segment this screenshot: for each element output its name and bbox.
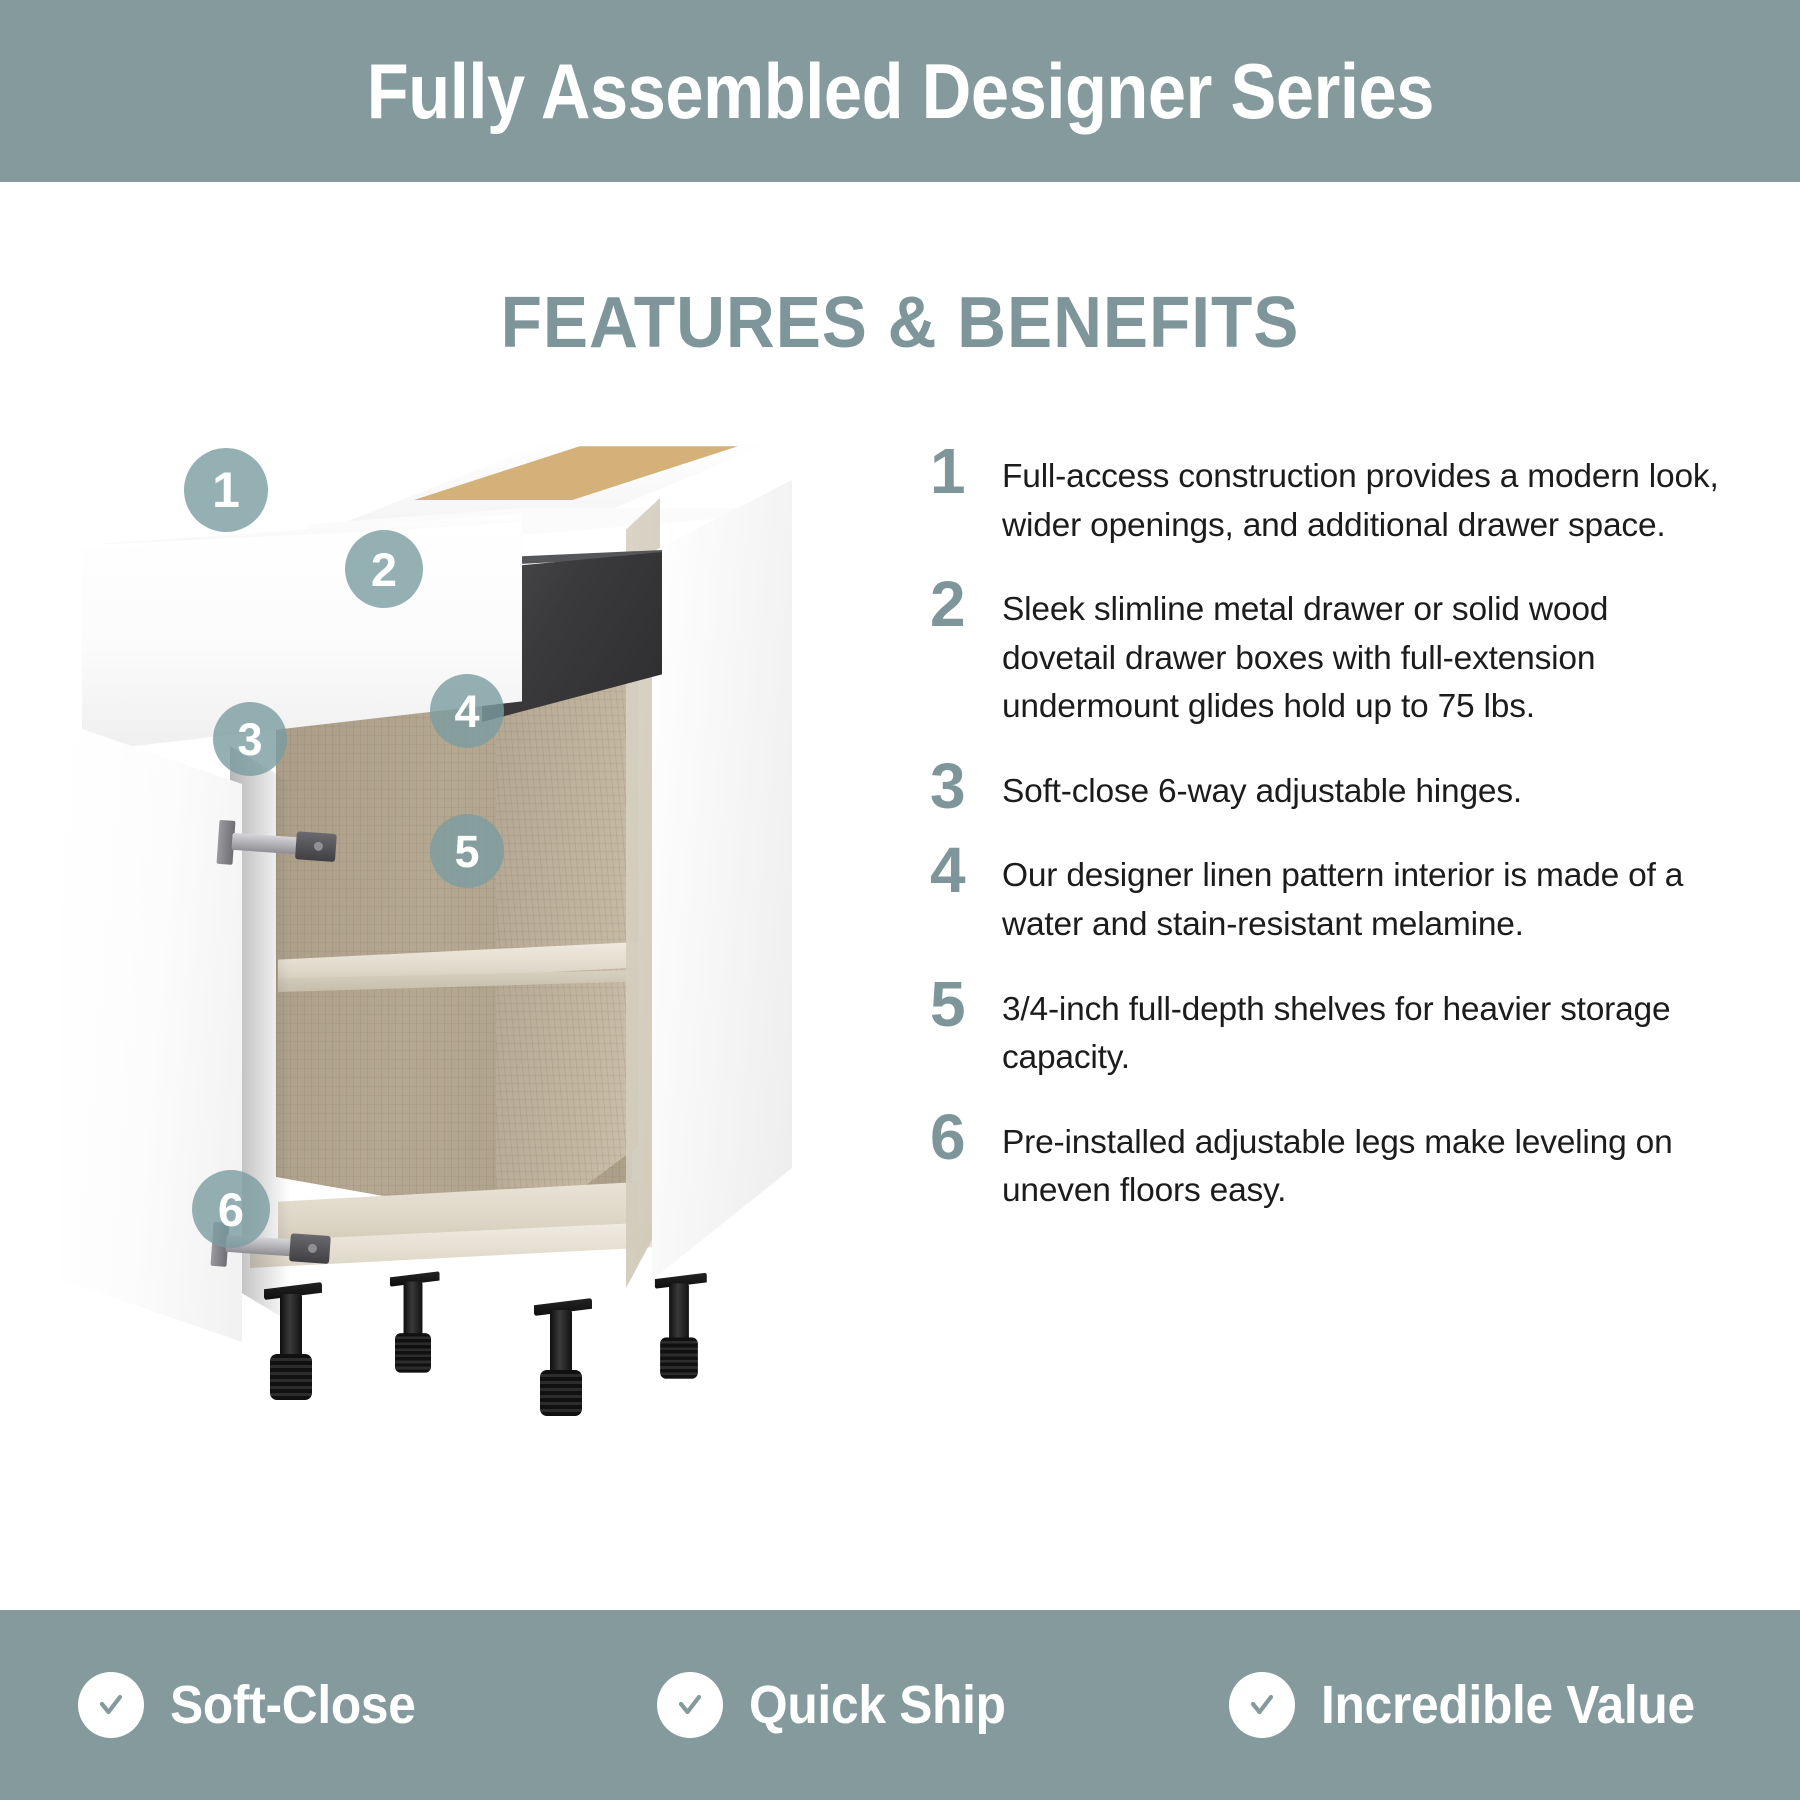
check-circle-icon (1229, 1672, 1295, 1738)
feature-item-2: 2 Sleek slimline metal drawer or solid w… (930, 580, 1720, 732)
product-illustration (40, 422, 840, 1512)
footer-label-soft-close: Soft-Close (170, 1674, 416, 1736)
content-stage: 1 2 3 4 5 6 1 Full-access construction p… (0, 182, 1800, 1610)
soft-close-hinge-top (216, 816, 339, 872)
adjustable-leg-back-right (658, 1283, 699, 1380)
callout-badge-1: 1 (184, 448, 268, 532)
check-circle-icon (78, 1672, 144, 1738)
leg-foot (270, 1354, 312, 1400)
footer-item-quick-ship: Quick Ship (649, 1672, 1228, 1738)
header-banner: Fully Assembled Designer Series (0, 0, 1800, 182)
feature-text-6: Pre-installed adjustable legs make level… (1002, 1113, 1720, 1216)
cabinet-right-side-panel (652, 480, 792, 1280)
feature-number-1: 1 (930, 447, 1002, 497)
feature-number-4: 4 (930, 846, 1002, 896)
callout-badge-3: 3 (213, 702, 287, 776)
adjustable-leg-back-left (393, 1282, 433, 1375)
footer-item-incredible-value: Incredible Value (1229, 1672, 1800, 1738)
feature-text-5: 3/4-inch full-depth shelves for heavier … (1002, 980, 1720, 1083)
callout-badge-2: 2 (345, 530, 423, 608)
callout-badge-5: 5 (430, 814, 504, 888)
page-title: Fully Assembled Designer Series (366, 46, 1433, 137)
feature-number-2: 2 (930, 580, 1002, 630)
feature-number-6: 6 (930, 1113, 1002, 1163)
footer-label-quick-ship: Quick Ship (749, 1674, 1006, 1736)
feature-item-6: 6 Pre-installed adjustable legs make lev… (930, 1113, 1720, 1216)
feature-item-1: 1 Full-access construction provides a mo… (930, 447, 1720, 550)
features-list: 1 Full-access construction provides a mo… (930, 447, 1720, 1246)
callout-badge-4: 4 (430, 674, 504, 748)
feature-text-1: Full-access construction provides a mode… (1002, 447, 1720, 550)
adjustable-leg-front-left (268, 1294, 314, 1402)
callout-badge-6: 6 (192, 1170, 270, 1248)
check-circle-icon (657, 1672, 723, 1738)
footer-label-incredible-value: Incredible Value (1321, 1674, 1695, 1736)
feature-item-4: 4 Our designer linen pattern interior is… (930, 846, 1720, 949)
leg-foot (395, 1333, 431, 1373)
leg-foot (540, 1370, 582, 1416)
feature-text-3: Soft-close 6-way adjustable hinges. (1002, 762, 1720, 817)
feature-number-3: 3 (930, 762, 1002, 812)
footer-banner: Soft-Close Quick Ship Incredible Value (0, 1610, 1800, 1800)
adjustable-leg-front-right (538, 1310, 584, 1418)
feature-text-4: Our designer linen pattern interior is m… (1002, 846, 1720, 949)
leg-foot (660, 1337, 698, 1378)
feature-item-5: 5 3/4-inch full-depth shelves for heavie… (930, 980, 1720, 1083)
feature-number-5: 5 (930, 980, 1002, 1030)
feature-text-2: Sleek slimline metal drawer or solid woo… (1002, 580, 1720, 732)
footer-item-soft-close: Soft-Close (0, 1672, 649, 1738)
feature-item-3: 3 Soft-close 6-way adjustable hinges. (930, 762, 1720, 817)
